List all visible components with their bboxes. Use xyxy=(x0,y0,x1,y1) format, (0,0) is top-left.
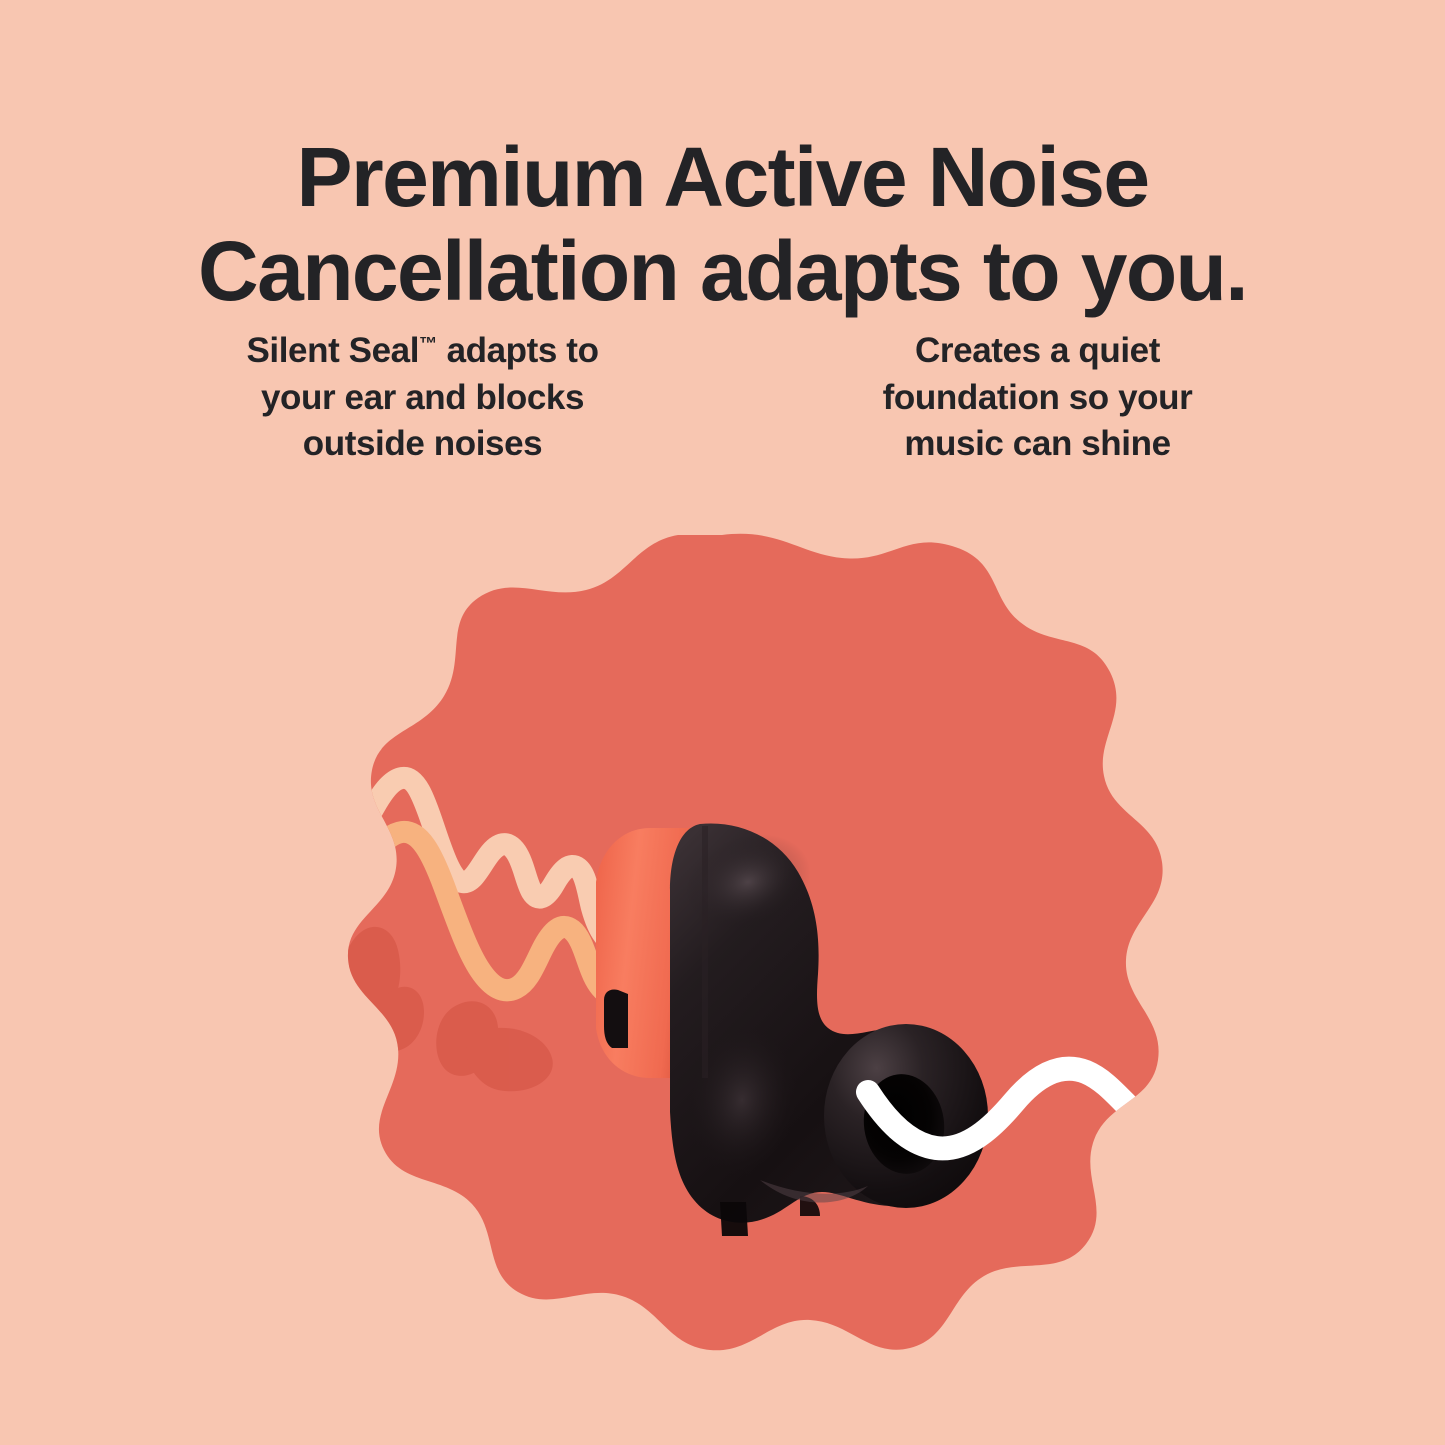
earbud-port-slot xyxy=(604,989,628,1048)
caption-row: Silent Seal™ adapts to your ear and bloc… xyxy=(0,328,1445,468)
product-illustration xyxy=(0,480,1445,1445)
caption-silent-seal-text-before: Silent Seal xyxy=(246,331,419,370)
page-title: Premium Active Noise Cancellation adapts… xyxy=(0,130,1445,318)
promo-card: Premium Active Noise Cancellation adapts… xyxy=(0,0,1445,1445)
trademark-icon: ™ xyxy=(419,333,437,353)
caption-silent-seal: Silent Seal™ adapts to your ear and bloc… xyxy=(208,328,638,468)
caption-quiet-foundation: Creates a quiet foundation so your music… xyxy=(838,328,1238,468)
earbud-contact-nub-left xyxy=(720,1202,748,1236)
